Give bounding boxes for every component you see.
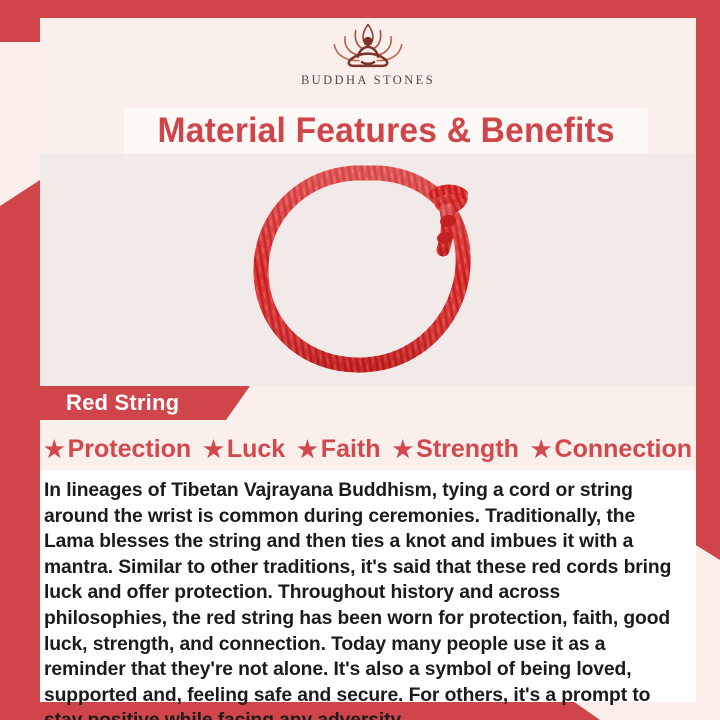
product-name-label: Red String <box>66 390 179 416</box>
product-image-area <box>40 154 696 386</box>
infographic-page: BUDDHA STONES Material Features & Benefi… <box>0 0 720 720</box>
feature-item-protection: ★ Protection <box>44 435 191 464</box>
feature-item-luck: ★ Luck <box>203 435 285 464</box>
title-banner: Material Features & Benefits <box>124 108 648 154</box>
feature-label: Luck <box>227 435 285 464</box>
lotus-meditation-icon <box>322 20 414 72</box>
star-icon: ★ <box>297 438 318 461</box>
feature-label: Faith <box>321 435 381 464</box>
frame-left-bar <box>0 180 40 720</box>
page-title: Material Features & Benefits <box>157 111 614 151</box>
star-icon: ★ <box>393 438 414 461</box>
feature-label: Protection <box>68 435 192 464</box>
description-card: In lineages of Tibetan Vajrayana Buddhis… <box>40 470 696 702</box>
ribbon-gap <box>40 420 696 428</box>
feature-label: Connection <box>555 435 693 464</box>
content-canvas: BUDDHA STONES Material Features & Benefi… <box>40 18 696 702</box>
feature-label: Strength <box>416 435 519 464</box>
feature-list: ★ Protection ★ Luck ★ Faith ★ Strength ★… <box>40 428 696 470</box>
description-text: In lineages of Tibetan Vajrayana Buddhis… <box>44 478 684 720</box>
brand-name: BUDDHA STONES <box>301 73 435 88</box>
star-icon: ★ <box>203 438 224 461</box>
product-name-ribbon: Red String <box>40 386 250 420</box>
feature-item-connection: ★ Connection <box>531 435 692 464</box>
star-icon: ★ <box>44 438 65 461</box>
brand-logo: BUDDHA STONES <box>40 18 696 96</box>
star-icon: ★ <box>531 438 552 461</box>
feature-item-strength: ★ Strength <box>393 435 519 464</box>
feature-item-faith: ★ Faith <box>297 435 380 464</box>
red-braided-string-bracelet-icon <box>237 158 499 382</box>
